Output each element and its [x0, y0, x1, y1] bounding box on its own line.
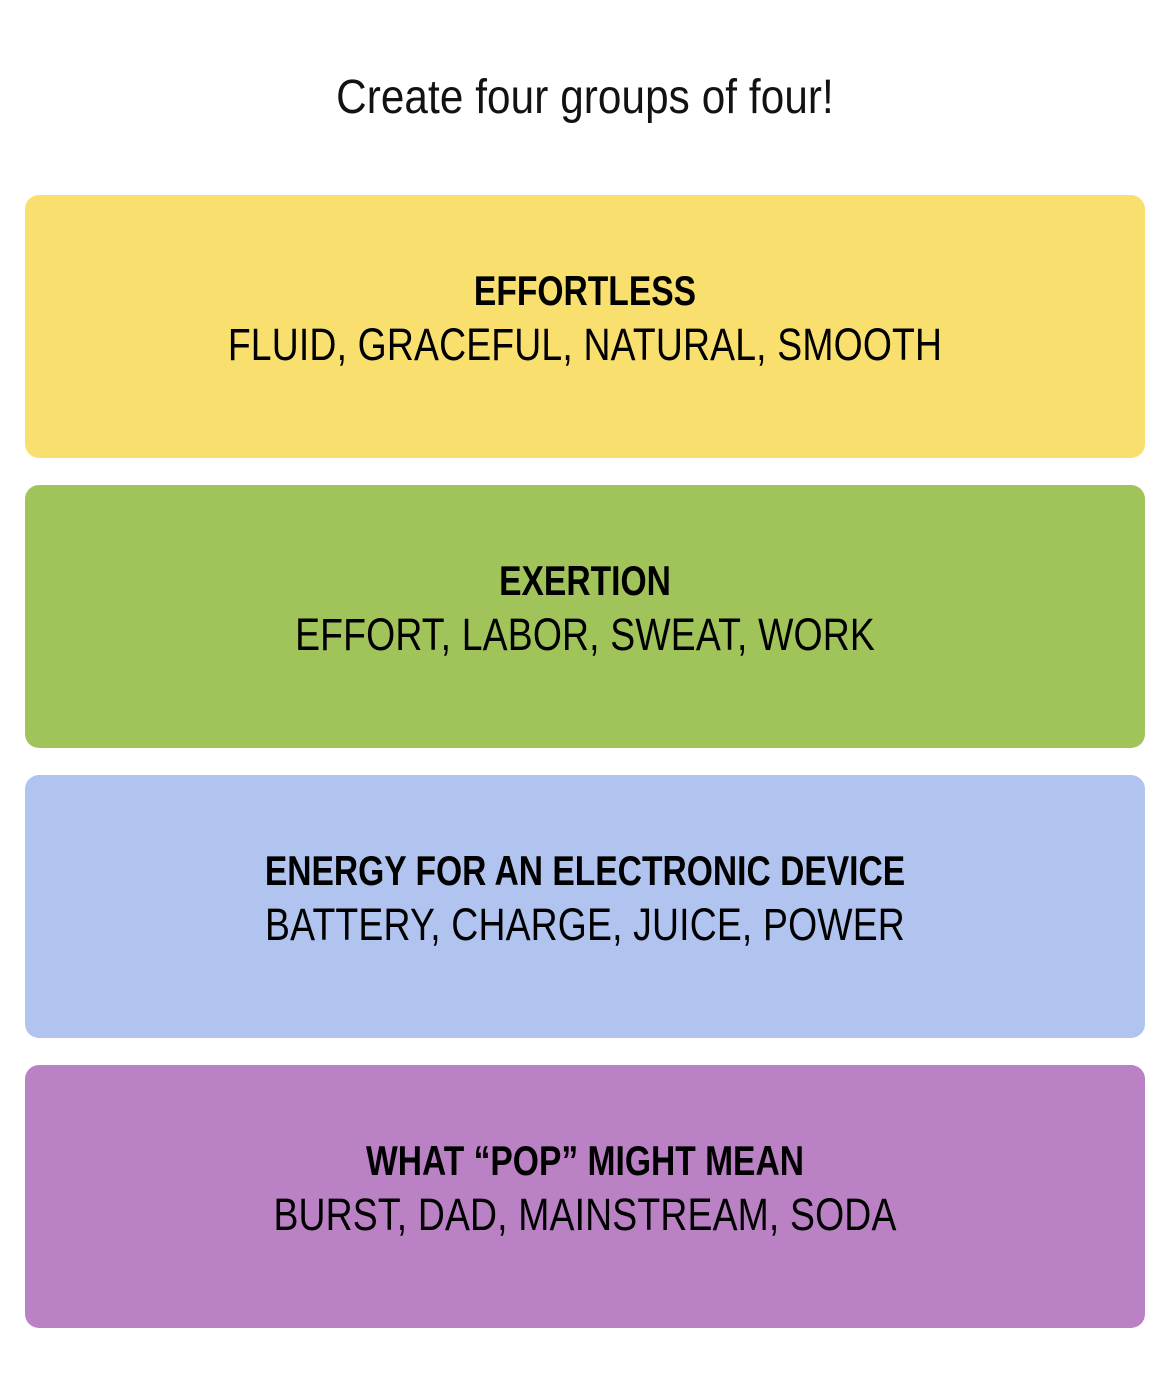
group-member-words: BATTERY, CHARGE, JUICE, POWER	[132, 897, 1038, 953]
group-category-name: WHAT “POP” MIGHT MEAN	[148, 1135, 1022, 1187]
connections-answer-page: Create four groups of four! EFFORTLESS F…	[0, 0, 1170, 1380]
group-card-green[interactable]: EXERTION EFFORT, LABOR, SWEAT, WORK	[25, 485, 1145, 748]
group-card-purple[interactable]: WHAT “POP” MIGHT MEAN BURST, DAD, MAINST…	[25, 1065, 1145, 1328]
group-category-name: ENERGY FOR AN ELECTRONIC DEVICE	[148, 845, 1022, 897]
solved-groups-list: EFFORTLESS FLUID, GRACEFUL, NATURAL, SMO…	[25, 195, 1145, 1328]
group-category-name: EFFORTLESS	[148, 265, 1022, 317]
group-card-content: ENERGY FOR AN ELECTRONIC DEVICE BATTERY,…	[25, 845, 1145, 953]
group-card-yellow[interactable]: EFFORTLESS FLUID, GRACEFUL, NATURAL, SMO…	[25, 195, 1145, 458]
group-category-name: EXERTION	[148, 555, 1022, 607]
group-member-words: BURST, DAD, MAINSTREAM, SODA	[132, 1187, 1038, 1243]
group-card-content: WHAT “POP” MIGHT MEAN BURST, DAD, MAINST…	[25, 1135, 1145, 1243]
group-card-blue[interactable]: ENERGY FOR AN ELECTRONIC DEVICE BATTERY,…	[25, 775, 1145, 1038]
group-member-words: FLUID, GRACEFUL, NATURAL, SMOOTH	[132, 317, 1038, 373]
group-member-words: EFFORT, LABOR, SWEAT, WORK	[132, 607, 1038, 663]
group-card-content: EXERTION EFFORT, LABOR, SWEAT, WORK	[25, 555, 1145, 663]
group-card-content: EFFORTLESS FLUID, GRACEFUL, NATURAL, SMO…	[25, 265, 1145, 373]
page-title: Create four groups of four!	[70, 68, 1100, 128]
